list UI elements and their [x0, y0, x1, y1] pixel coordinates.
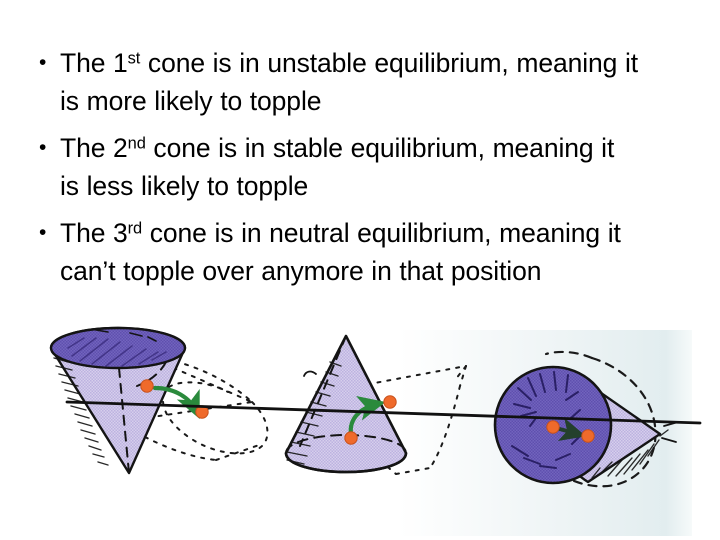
bullet-3-ordinal-suffix: rd: [128, 219, 142, 237]
bullet-marker-icon: •: [34, 129, 60, 167]
bullet-list: • The 1st cone is in unstable equilibriu…: [34, 44, 684, 299]
bullet-text-2: The 2nd cone is in stable equilibrium, m…: [60, 129, 640, 205]
bullet-3-post: cone is in neutral equilibrium, meaning …: [60, 218, 621, 286]
cone-stable-dot-pivot: [384, 396, 396, 408]
bullet-3-ordinal: 3: [113, 218, 128, 248]
bullet-item-3: • The 3rd cone is in neutral equilibrium…: [34, 214, 684, 290]
bullet-marker-icon: •: [34, 214, 60, 252]
bullet-text-3: The 3rd cone is in neutral equilibrium, …: [60, 214, 640, 290]
bullet-2-ordinal: 2: [113, 133, 128, 163]
cone-neutral-dot-centre-of-mass: [547, 421, 559, 433]
bullet-1-pre: The: [60, 48, 113, 78]
bullet-1-post: cone is in unstable equilibrium, meaning…: [60, 48, 638, 116]
bullet-text-1: The 1st cone is in unstable equilibrium,…: [60, 44, 640, 120]
bullet-1-ordinal-suffix: st: [128, 49, 141, 67]
bullet-item-1: • The 1st cone is in unstable equilibriu…: [34, 44, 684, 120]
bullet-2-pre: The: [60, 133, 113, 163]
bullet-1-ordinal: 1: [113, 48, 128, 78]
cone-neutral-dot-contact: [582, 430, 594, 442]
bullet-2-ordinal-suffix: nd: [128, 134, 146, 152]
cone-equilibrium-figure: [0, 326, 720, 540]
slide-canvas: • The 1st cone is in unstable equilibriu…: [0, 0, 720, 540]
bullet-3-pre: The: [60, 218, 113, 248]
cone-stable-dot-centre-of-mass: [345, 432, 357, 444]
bullet-marker-icon: •: [34, 44, 60, 82]
bullet-item-2: • The 2nd cone is in stable equilibrium,…: [34, 129, 684, 205]
cone-unstable-dot-centre-of-mass: [141, 380, 153, 392]
